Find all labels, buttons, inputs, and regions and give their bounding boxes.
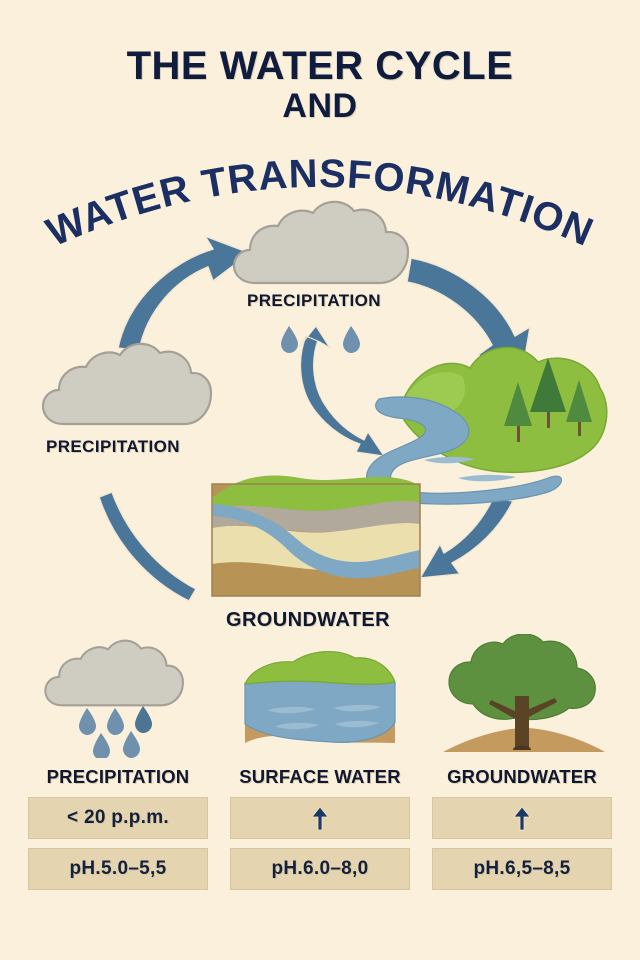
column-header-precipitation: PRECIPITATION xyxy=(47,766,190,788)
surface-water-icon xyxy=(237,628,403,758)
cell-precipitation-value: < 20 p.p.m. xyxy=(28,797,208,839)
column-header-surface-water: SURFACE WATER xyxy=(239,766,401,788)
arrow-exchange-double xyxy=(300,326,384,456)
title-arc-text: WATER TRANSFORMATION xyxy=(0,138,640,248)
column-header-groundwater: GROUNDWATER xyxy=(447,766,597,788)
poster-canvas: THE WATER CYCLE AND WATER TRANSFORMATION xyxy=(0,0,640,960)
table-column-surface-water: SURFACE WATER pH.6.0–8,0 xyxy=(230,628,410,890)
arrow-up-icon xyxy=(511,805,533,831)
arrow-infiltration-left xyxy=(99,492,196,601)
conifer-trees-icon xyxy=(504,358,592,442)
cloud-left-icon xyxy=(43,344,211,424)
title-arc-label: WATER TRANSFORMATION xyxy=(40,152,600,248)
tree-icon xyxy=(437,628,607,758)
cell-precipitation-ph: pH.5.0–5,5 xyxy=(28,848,208,890)
cell-groundwater-trend xyxy=(432,797,612,839)
arrow-percolation-down xyxy=(420,498,513,578)
label-precipitation-left: PRECIPITATION xyxy=(46,437,180,457)
cell-groundwater-ph: pH.6,5–8,5 xyxy=(432,848,612,890)
groundwater-cross-section xyxy=(212,475,420,596)
label-precipitation-top: PRECIPITATION xyxy=(247,291,381,311)
svg-text:WATER TRANSFORMATION: WATER TRANSFORMATION xyxy=(40,152,600,248)
table-column-precipitation: PRECIPITATION < 20 p.p.m. pH.5.0–5,5 xyxy=(28,628,208,890)
cell-surface-water-trend xyxy=(230,797,410,839)
poster-title: THE WATER CYCLE AND xyxy=(0,46,640,123)
comparison-table: PRECIPITATION < 20 p.p.m. pH.5.0–5,5 SUR… xyxy=(0,628,640,890)
table-column-groundwater: GROUNDWATER pH.6,5–8,5 xyxy=(432,628,612,890)
title-line-2: AND xyxy=(0,89,640,124)
raindrops-top xyxy=(281,326,360,353)
rain-cloud-icon xyxy=(43,628,193,758)
arrow-condensation-right xyxy=(407,258,530,375)
river-landscape-illustration xyxy=(367,348,607,505)
arrow-up-icon xyxy=(309,805,331,831)
cell-surface-water-ph: pH.6.0–8,0 xyxy=(230,848,410,890)
title-line-1: THE WATER CYCLE xyxy=(0,46,640,87)
arrow-evaporation-up xyxy=(118,236,250,351)
